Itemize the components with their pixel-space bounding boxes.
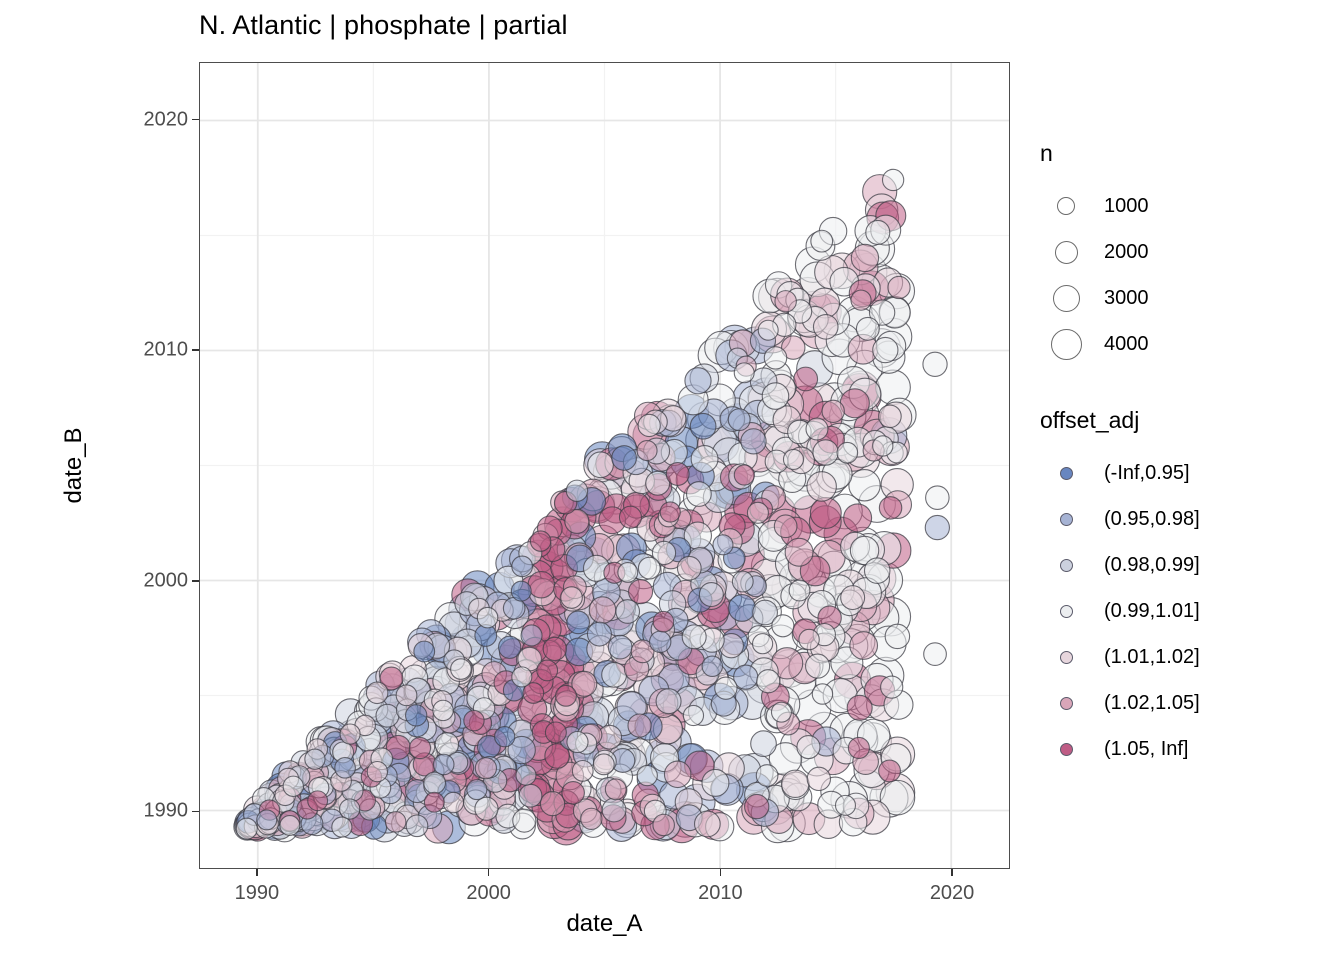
legend-color-item[interactable]: (1.01,1.02] — [1040, 634, 1340, 680]
y-tick-label: 2020 — [144, 108, 189, 131]
circle-icon — [1057, 197, 1075, 215]
ggplot-figure: N. Atlantic | phosphate | partial 199020… — [0, 0, 1344, 960]
legend-size-label: 4000 — [1104, 333, 1149, 356]
circle-icon — [1053, 285, 1080, 312]
y-tick-label: 1990 — [144, 800, 189, 823]
x-tick-mark — [951, 869, 953, 876]
legend-color-key — [1040, 559, 1092, 572]
x-tick-mark — [256, 869, 258, 876]
legend-color-label: (1.02,1.05] — [1104, 692, 1200, 715]
circle-icon — [1055, 241, 1078, 264]
legend-color-label: (0.95,0.98] — [1104, 508, 1200, 531]
legend-color-item[interactable]: (0.98,0.99] — [1040, 542, 1340, 588]
legend-size-key — [1040, 285, 1092, 312]
dot-icon — [1060, 605, 1073, 618]
legend-color-label: (0.98,0.99] — [1104, 554, 1200, 577]
y-tick-mark — [192, 811, 199, 813]
legend-color-label: (1.05, Inf] — [1104, 738, 1189, 761]
legend-color-item[interactable]: (1.02,1.05] — [1040, 680, 1340, 726]
dot-icon — [1060, 743, 1073, 756]
legend-color-item[interactable]: (0.95,0.98] — [1040, 496, 1340, 542]
legend-color-label: (1.01,1.02] — [1104, 646, 1200, 669]
scatter-points — [200, 63, 1009, 868]
x-tick-label: 1990 — [235, 882, 280, 905]
legend-color: offset_adj (-Inf,0.95](0.95,0.98](0.98,0… — [1040, 407, 1340, 772]
legend-size-label: 1000 — [1104, 195, 1149, 218]
legend-color-rows: (-Inf,0.95](0.95,0.98](0.98,0.99](0.99,1… — [1040, 450, 1340, 772]
legend-color-item[interactable]: (-Inf,0.95] — [1040, 450, 1340, 496]
x-tick-mark — [488, 869, 490, 876]
legend-color-key — [1040, 697, 1092, 710]
legend-size-item[interactable]: 4000 — [1040, 321, 1340, 367]
legend-size-item[interactable]: 1000 — [1040, 183, 1340, 229]
legend-size-label: 2000 — [1104, 241, 1149, 264]
y-tick-mark — [192, 580, 199, 582]
y-axis-title: date_B — [60, 62, 94, 869]
x-tick-mark — [720, 869, 722, 876]
legend-size-label: 3000 — [1104, 287, 1149, 310]
legend-color-label: (-Inf,0.95] — [1104, 462, 1190, 485]
dot-icon — [1060, 651, 1073, 664]
x-axis-title: date_A — [199, 910, 1010, 938]
legend-color-key — [1040, 651, 1092, 664]
y-tick-mark — [192, 119, 199, 121]
legend-size-rows: 1000200030004000 — [1040, 183, 1340, 367]
y-tick-label: 2000 — [144, 569, 189, 592]
x-tick-label: 2000 — [466, 882, 511, 905]
legend-color-item[interactable]: (0.99,1.01] — [1040, 588, 1340, 634]
legend-color-item[interactable]: (1.05, Inf] — [1040, 726, 1340, 772]
dot-icon — [1060, 559, 1073, 572]
dot-icon — [1060, 467, 1073, 480]
legend-color-key — [1040, 513, 1092, 526]
legend-size-title: n — [1040, 140, 1340, 167]
page-title: N. Atlantic | phosphate | partial — [199, 10, 568, 41]
legend-size-key — [1040, 241, 1092, 264]
legend-size-key — [1040, 197, 1092, 215]
legend-color-key — [1040, 467, 1092, 480]
legend-color-title: offset_adj — [1040, 407, 1340, 434]
dot-icon — [1060, 513, 1073, 526]
legend-size-item[interactable]: 2000 — [1040, 229, 1340, 275]
legend-area: n 1000200030004000 offset_adj (-Inf,0.95… — [1040, 140, 1340, 812]
legend-size: n 1000200030004000 — [1040, 140, 1340, 367]
circle-icon — [1051, 329, 1082, 360]
y-tick-mark — [192, 349, 199, 351]
legend-color-key — [1040, 605, 1092, 618]
x-tick-label: 2010 — [698, 882, 743, 905]
legend-color-label: (0.99,1.01] — [1104, 600, 1200, 623]
legend-size-key — [1040, 329, 1092, 360]
legend-color-key — [1040, 743, 1092, 756]
plot-panel — [199, 62, 1010, 869]
dot-icon — [1060, 697, 1073, 710]
y-tick-label: 2010 — [144, 339, 189, 362]
legend-size-item[interactable]: 3000 — [1040, 275, 1340, 321]
x-tick-label: 2020 — [930, 882, 975, 905]
